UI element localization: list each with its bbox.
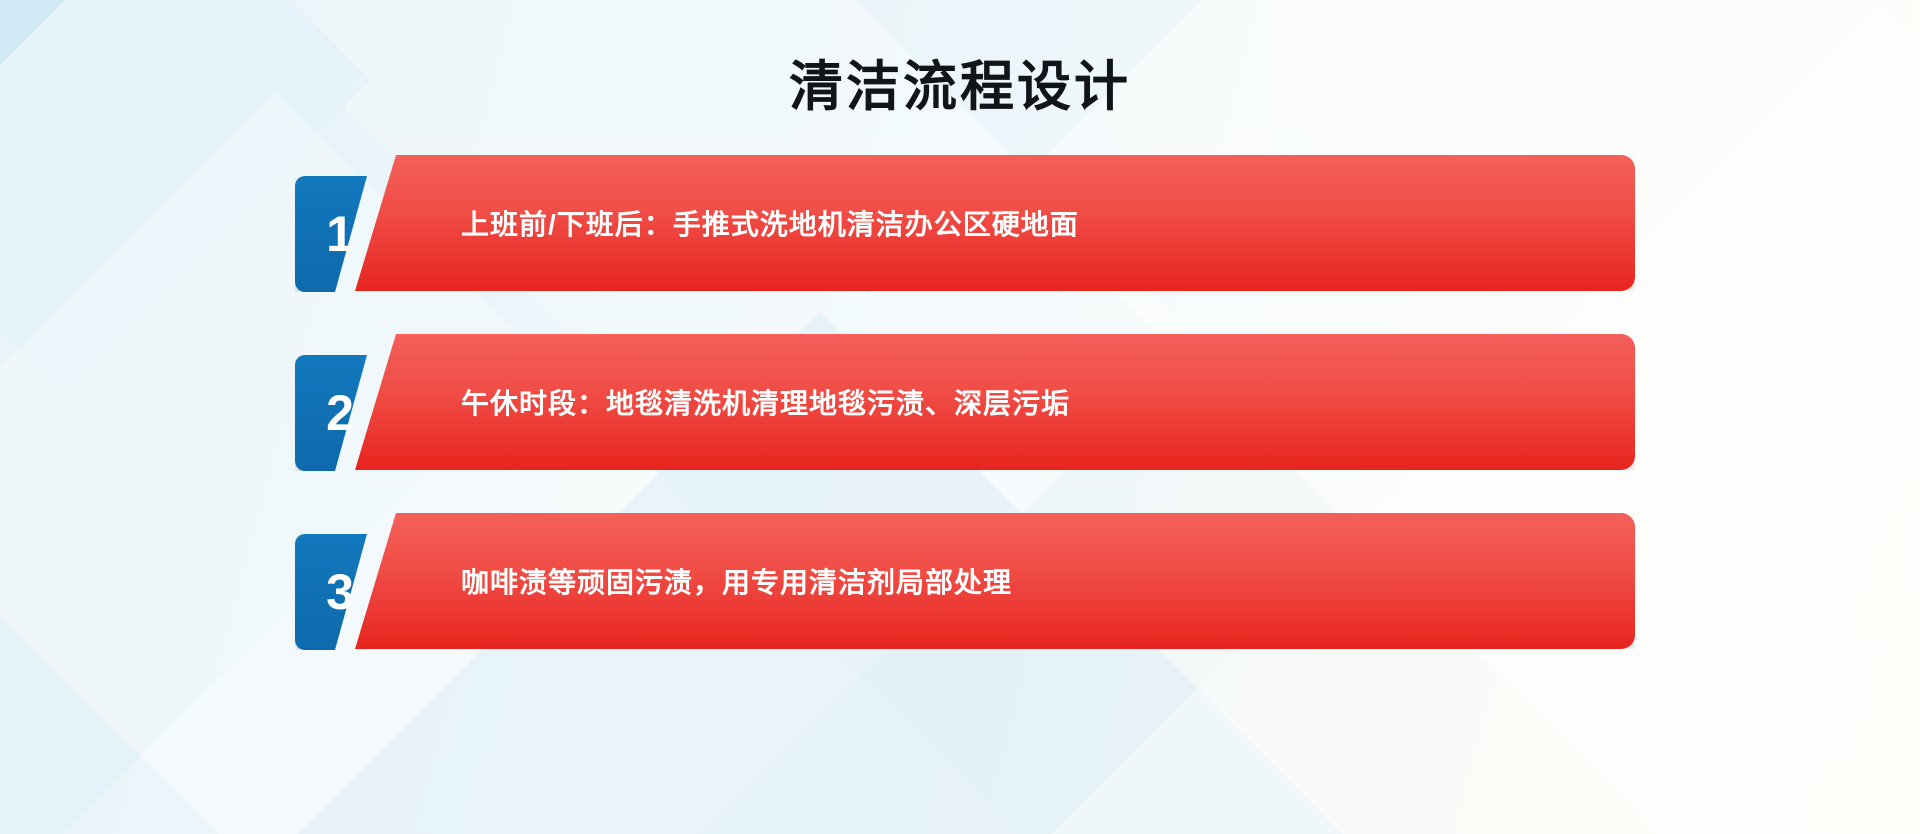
step-list: 上班前/下班后：手推式洗地机清洁办公区硬地面 1 午休时段：地毯清洗机清理地毯污…	[295, 155, 1635, 649]
step-item-2[interactable]: 午休时段：地毯清洗机清理地毯污渍、深层污垢 2	[295, 334, 1635, 470]
step-bar-1	[333, 155, 1635, 291]
step-bar-2	[333, 334, 1635, 470]
step-bar-3	[333, 513, 1635, 649]
step-item-1[interactable]: 上班前/下班后：手推式洗地机清洁办公区硬地面 1	[295, 155, 1635, 291]
page-title: 清洁流程设计	[0, 58, 1920, 117]
step-item-3[interactable]: 咖啡渍等顽固污渍，用专用清洁剂局部处理 3	[295, 513, 1635, 649]
slide-content: 清洁流程设计 上班前/下班后：手推式洗地机清洁办公区硬地面 1 午休时段：地毯清…	[0, 0, 1920, 834]
